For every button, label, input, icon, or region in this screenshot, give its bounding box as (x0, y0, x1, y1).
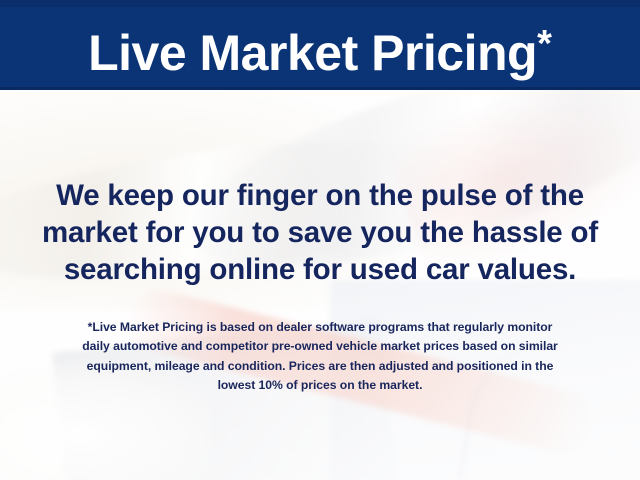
content-area: We keep our finger on the pulse of the m… (0, 90, 640, 480)
disclaimer: *Live Market Pricing is based on dealer … (22, 318, 618, 396)
headline-line-3: searching online for used car values. (24, 251, 616, 288)
disclaimer-line-1: *Live Market Pricing is based on dealer … (22, 318, 618, 337)
header-bar: Live Market Pricing* (0, 0, 640, 90)
page-title-text: Live Market Pricing (88, 25, 537, 81)
disclaimer-line-4: lowest 10% of prices on the market. (22, 376, 618, 395)
headline-line-2: market for you to save you the hassle of (24, 214, 616, 251)
live-market-pricing-banner: Live Market Pricing* We keep our finger … (0, 0, 640, 480)
page-title: Live Market Pricing* (0, 13, 640, 84)
headline: We keep our finger on the pulse of the m… (24, 177, 616, 288)
title-asterisk: * (537, 23, 552, 65)
disclaimer-line-3: equipment, mileage and condition. Prices… (22, 357, 618, 376)
headline-line-1: We keep our finger on the pulse of the (24, 177, 616, 214)
disclaimer-line-2: daily automotive and competitor pre-owne… (22, 337, 618, 356)
